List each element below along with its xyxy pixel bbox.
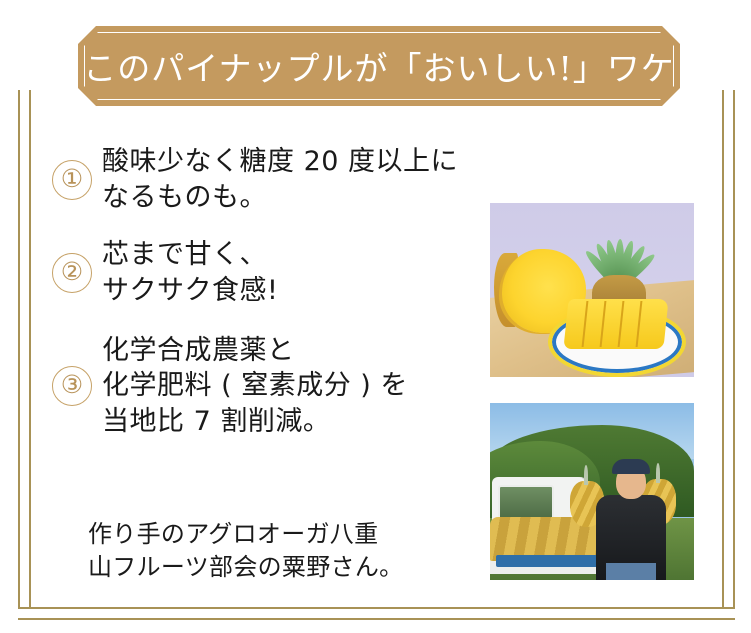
blue-crate xyxy=(496,555,604,567)
reason-item-1: ① 酸味少なく糖度 20 度以上に なるものも。 xyxy=(52,144,482,215)
page-title: このパイナップルが「おいしい!」ワケ xyxy=(83,42,675,90)
frame-line-bottom-upper xyxy=(18,607,735,609)
frame-line-right-inner xyxy=(722,90,724,609)
reason-item-2: ② 芯まで甘く、 サクサク食感! xyxy=(52,237,482,308)
farmer-jeans xyxy=(606,563,656,580)
frame-line-bottom-lower xyxy=(18,618,735,620)
reason-number-3: ③ xyxy=(52,366,92,406)
frame-line-left-outer xyxy=(18,90,20,609)
promo-page: このパイナップルが「おいしい!」ワケ ① 酸味少なく糖度 20 度以上に なるも… xyxy=(0,0,751,633)
reason-text-3: 化学合成農薬と 化学肥料 ( 窒素成分 ) を 当地比 7 割削減。 xyxy=(102,333,408,440)
reason-list: ① 酸味少なく糖度 20 度以上に なるものも。 ② 芯まで甘く、 サクサク食感… xyxy=(52,140,482,461)
reason-number-1: ① xyxy=(52,160,92,200)
frame-line-right-outer xyxy=(733,90,735,609)
pineapple-slices xyxy=(563,299,668,349)
reason-text-2: 芯まで甘く、 サクサク食感! xyxy=(102,237,278,308)
reason-number-2: ② xyxy=(52,253,92,293)
reason-text-1: 酸味少なく糖度 20 度以上に なるものも。 xyxy=(102,144,458,215)
truck-window xyxy=(498,485,554,521)
header-banner: このパイナップルが「おいしい!」ワケ xyxy=(78,26,680,106)
reason-item-3: ③ 化学合成農薬と 化学肥料 ( 窒素成分 ) を 当地比 7 割削減。 xyxy=(52,333,482,440)
photo-farmer xyxy=(490,403,694,580)
photo-pineapple-cut xyxy=(490,203,694,377)
frame-line-left-inner xyxy=(29,90,31,609)
farmer-cap xyxy=(612,459,650,474)
producer-caption: 作り手のアグロオーガ八重 山フルーツ部会の粟野さん。 xyxy=(88,518,488,584)
